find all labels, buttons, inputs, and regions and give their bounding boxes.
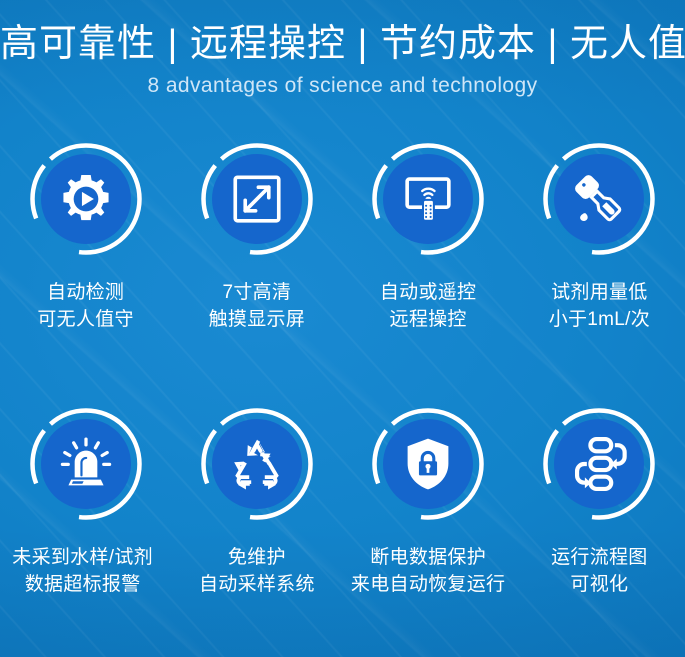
feature-caption-5-line2: 数据超标报警 xyxy=(12,572,153,599)
shield-lock-icon xyxy=(369,405,487,523)
recycle-icon xyxy=(198,405,316,523)
feature-item-6[interactable]: 免维护 自动采样系统 xyxy=(171,405,342,655)
feature-caption-6: 免维护 自动采样系统 xyxy=(199,545,315,599)
feature-caption-1-line1: 自动检测 xyxy=(47,282,124,303)
feature-caption-3: 自动或遥控 远程操控 xyxy=(380,280,477,334)
flowchart-cycle-icon xyxy=(540,405,658,523)
page-subtitle: 8 advantages of science and technology xyxy=(0,67,685,98)
feature-caption-8-line1: 运行流程图 xyxy=(551,547,648,568)
feature-caption-4: 试剂用量低 小于1mL/次 xyxy=(549,280,650,334)
feature-caption-5-line1: 未采到水样/试剂 xyxy=(12,547,153,568)
feature-caption-1: 自动检测 可无人值守 xyxy=(37,280,134,334)
feature-caption-3-line1: 自动或遥控 xyxy=(380,282,477,303)
feature-caption-8: 运行流程图 可视化 xyxy=(551,545,648,599)
feature-caption-3-line2: 远程操控 xyxy=(380,307,477,334)
feature-badge-3 xyxy=(369,140,487,258)
feature-caption-4-line2: 小于1mL/次 xyxy=(549,307,650,334)
feature-badge-7 xyxy=(369,405,487,523)
feature-item-8[interactable]: 运行流程图 可视化 xyxy=(514,405,685,655)
feature-badge-5 xyxy=(27,405,145,523)
feature-caption-4-line1: 试剂用量低 xyxy=(551,282,648,303)
feature-caption-2-line1: 7寸高清 xyxy=(222,282,291,303)
page-title: 高可靠性 | 远程操控 | 节约成本 | 无人值守 xyxy=(0,0,685,67)
feature-badge-2 xyxy=(198,140,316,258)
feature-caption-6-line2: 自动采样系统 xyxy=(199,572,315,599)
gear-play-icon xyxy=(27,140,145,258)
alarm-siren-icon xyxy=(27,405,145,523)
feature-item-7[interactable]: 断电数据保护 来电自动恢复运行 xyxy=(343,405,514,655)
expand-screen-icon xyxy=(198,140,316,258)
dropper-pipette-icon xyxy=(540,140,658,258)
feature-grid: 自动检测 可无人值守 xyxy=(0,140,685,655)
feature-item-2[interactable]: 7寸高清 触摸显示屏 xyxy=(171,140,342,405)
feature-item-4[interactable]: 试剂用量低 小于1mL/次 xyxy=(514,140,685,405)
feature-caption-7: 断电数据保护 来电自动恢复运行 xyxy=(351,545,505,599)
feature-badge-4 xyxy=(540,140,658,258)
feature-caption-5: 未采到水样/试剂 数据超标报警 xyxy=(12,545,153,599)
promo-poster: 高可靠性 | 远程操控 | 节约成本 | 无人值守 8 advantages o… xyxy=(0,0,685,657)
feature-badge-8 xyxy=(540,405,658,523)
feature-caption-6-line1: 免维护 xyxy=(228,547,286,568)
feature-item-3[interactable]: 自动或遥控 远程操控 xyxy=(343,140,514,405)
feature-caption-2: 7寸高清 触摸显示屏 xyxy=(209,280,306,334)
feature-item-1[interactable]: 自动检测 可无人值守 xyxy=(0,140,171,405)
tv-remote-wifi-icon xyxy=(369,140,487,258)
feature-caption-8-line2: 可视化 xyxy=(551,572,648,599)
poster-header: 高可靠性 | 远程操控 | 节约成本 | 无人值守 8 advantages o… xyxy=(0,0,685,98)
feature-badge-6 xyxy=(198,405,316,523)
feature-badge-1 xyxy=(27,140,145,258)
feature-item-5[interactable]: 未采到水样/试剂 数据超标报警 xyxy=(0,405,171,655)
feature-caption-7-line1: 断电数据保护 xyxy=(370,547,486,568)
feature-caption-2-line2: 触摸显示屏 xyxy=(209,307,306,334)
feature-caption-1-line2: 可无人值守 xyxy=(37,307,134,334)
feature-caption-7-line2: 来电自动恢复运行 xyxy=(351,572,505,599)
